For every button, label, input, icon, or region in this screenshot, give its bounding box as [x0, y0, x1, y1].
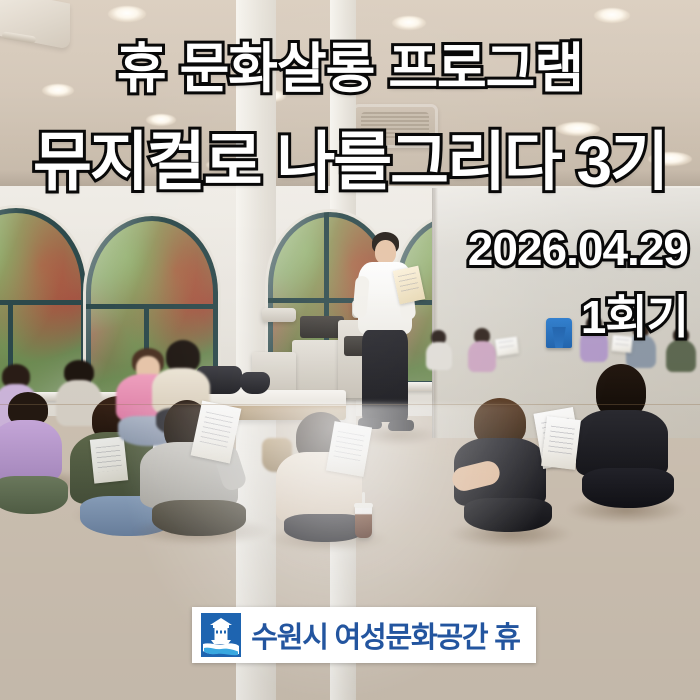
- program-date: 2026.04.29: [468, 224, 688, 274]
- program-poster: 휴 문화살롱 프로그램 뮤지컬로 나를그리다 3기 2026.04.29 1회기: [0, 0, 700, 700]
- organization-name: 수원시 여성문화공간 휴: [241, 614, 536, 656]
- program-title-line1: 휴 문화살롱 프로그램: [0, 40, 700, 98]
- text-overlay: 휴 문화살롱 프로그램 뮤지컬로 나를그리다 3기 2026.04.29 1회기: [0, 0, 700, 700]
- program-title-line2: 뮤지컬로 나를그리다 3기: [0, 128, 700, 196]
- suwon-city-emblem-icon: [201, 613, 241, 657]
- program-session: 1회기: [581, 292, 688, 342]
- organization-logo-bar: 수원시 여성문화공간 휴: [192, 607, 536, 663]
